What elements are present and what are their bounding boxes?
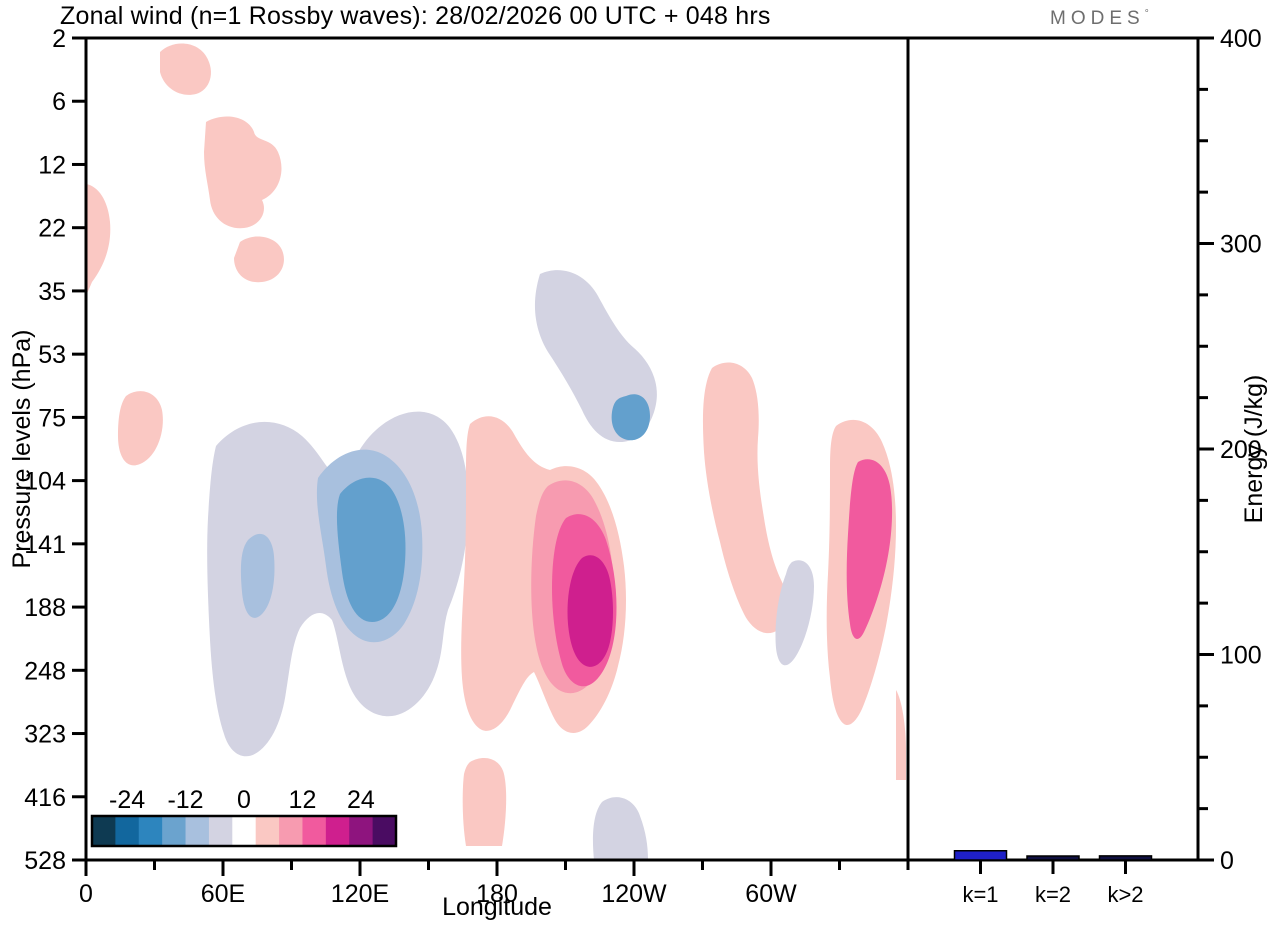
left-tick-label: 323 — [24, 721, 66, 749]
left-tick-label: 6 — [52, 88, 66, 116]
colorbar-swatch — [256, 816, 280, 846]
bottom-tick-label: 120E — [331, 880, 389, 908]
left-tick-label: 35 — [38, 278, 66, 306]
colorbar-swatch — [92, 816, 116, 846]
bottom-tick-label: 60E — [201, 880, 245, 908]
chart-canvas: 261222355375104141188248323416528 Pressu… — [0, 0, 1280, 930]
bottom-axis-ticks — [86, 860, 908, 876]
energy-bar — [1027, 856, 1079, 860]
colorbar-swatch — [162, 816, 186, 846]
right-axis-ticks — [1198, 38, 1214, 860]
figure-root: Zonal wind (n=1 Rossby waves): 28/02/202… — [0, 0, 1280, 930]
energy-bars — [955, 851, 1152, 860]
left-tick-label: 188 — [24, 594, 66, 622]
contour-pos-blob-lower-center — [463, 758, 506, 846]
right-tick-label: 300 — [1220, 231, 1262, 259]
bottom-axis-labels: 060E120E180120W60W — [79, 880, 797, 908]
colorbar-swatch — [302, 816, 326, 846]
energy-bar — [955, 851, 1007, 860]
colorbar — [92, 816, 397, 846]
energy-bar-label: k>2 — [1107, 882, 1143, 907]
bottom-axis-title: Longitude — [442, 893, 552, 921]
contour-pos-core-pacific — [568, 555, 613, 667]
colorbar-swatch — [349, 816, 373, 846]
colorbar-swatch — [279, 816, 303, 846]
right-tick-label: 400 — [1220, 25, 1262, 53]
colorbar-swatch — [373, 816, 397, 846]
left-tick-label: 22 — [38, 215, 66, 243]
colorbar-swatch — [326, 816, 350, 846]
colorbar-tick-label: -24 — [109, 786, 145, 814]
colorbar-tick-label: 0 — [237, 786, 251, 814]
energy-bar-label: k=1 — [962, 882, 998, 907]
bottom-tick-label: 60W — [745, 880, 797, 908]
left-tick-label: 2 — [52, 25, 66, 53]
colorbar-swatch — [186, 816, 210, 846]
colorbar-tick-label: 12 — [289, 786, 317, 814]
colorbar-swatch — [139, 816, 163, 846]
left-tick-label: 75 — [38, 404, 66, 432]
left-axis-title: Pressure levels (hPa) — [8, 330, 36, 569]
left-tick-label: 416 — [24, 784, 66, 812]
energy-panel-frame — [908, 38, 1198, 860]
right-tick-label: 0 — [1220, 847, 1234, 875]
colorbar-swatch — [232, 816, 256, 846]
energy-bar-label: k=2 — [1035, 882, 1071, 907]
left-axis-ticks — [72, 38, 86, 860]
bottom-tick-label: 0 — [79, 880, 93, 908]
colorbar-swatch — [115, 816, 139, 846]
contour-pos-top-clip — [782, 19, 834, 38]
bottom-tick-label: 120W — [601, 880, 667, 908]
contour-pos-blob-upper-left-3 — [234, 236, 284, 282]
energy-bar — [1100, 856, 1152, 860]
colorbar-tick-label: -12 — [167, 786, 203, 814]
contour-field — [86, 19, 908, 860]
energy-bar-labels: k=1k=2k>2 — [962, 882, 1143, 907]
left-tick-label: 12 — [38, 151, 66, 179]
left-tick-label: 248 — [24, 657, 66, 685]
energy-bar-ticks — [981, 860, 1126, 874]
left-tick-label: 53 — [38, 341, 66, 369]
right-tick-label: 100 — [1220, 642, 1262, 670]
right-axis-title: Energy (J/kg) — [1240, 375, 1268, 524]
contour-neg-core-upper-pacific — [612, 394, 650, 440]
colorbar-tick-label: 24 — [347, 786, 375, 814]
left-tick-label: 528 — [24, 847, 66, 875]
colorbar-swatch — [209, 816, 233, 846]
contour-neg-top-clip — [266, 22, 312, 38]
